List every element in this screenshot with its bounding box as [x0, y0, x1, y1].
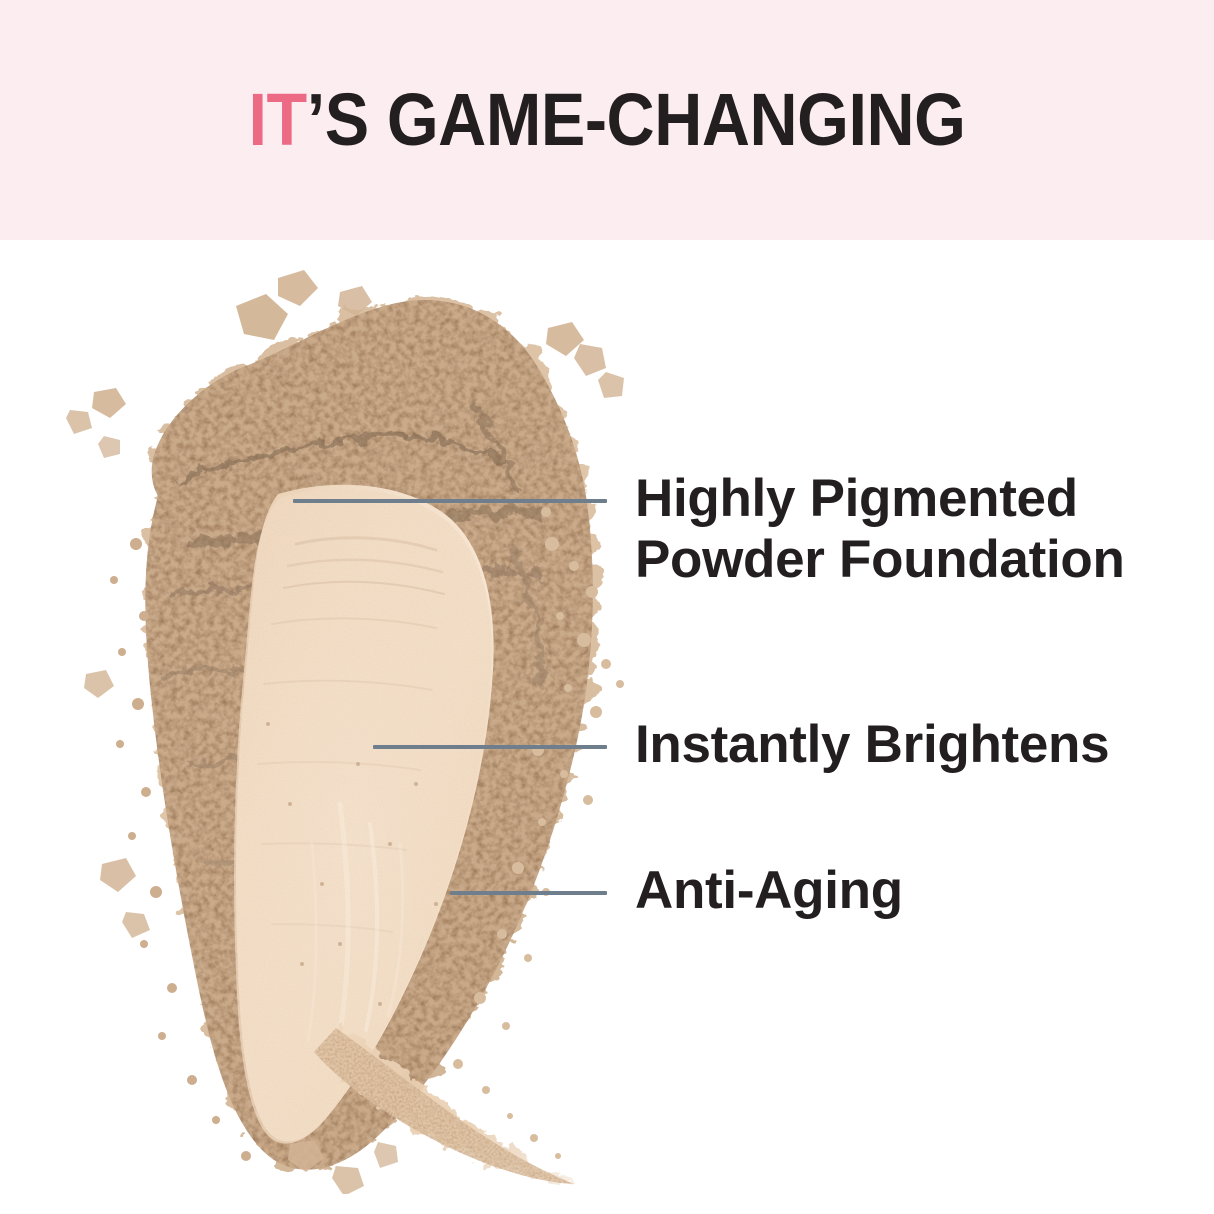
- callout-line: Powder Foundation: [635, 529, 1125, 590]
- headline-main-text: ’S GAME-CHANGING: [307, 83, 966, 157]
- callout-highly-pigmented-powder-foundation: Highly Pigmented Powder Foundation: [635, 468, 1125, 591]
- product-feature-callout-graphic: IT’S GAME-CHANGING: [0, 0, 1214, 1214]
- leader-line-3: [450, 891, 607, 895]
- page-title: IT’S GAME-CHANGING: [61, 0, 1154, 240]
- callout-line: Anti-Aging: [635, 860, 903, 921]
- leader-line-1: [293, 499, 607, 503]
- callout-line: Instantly Brightens: [635, 714, 1109, 775]
- callout-instantly-brightens: Instantly Brightens: [635, 714, 1109, 775]
- callout-line: Highly Pigmented: [635, 468, 1125, 529]
- headline-accent-text: IT: [248, 83, 306, 157]
- callout-anti-aging: Anti-Aging: [635, 860, 903, 921]
- leader-line-2: [373, 745, 607, 749]
